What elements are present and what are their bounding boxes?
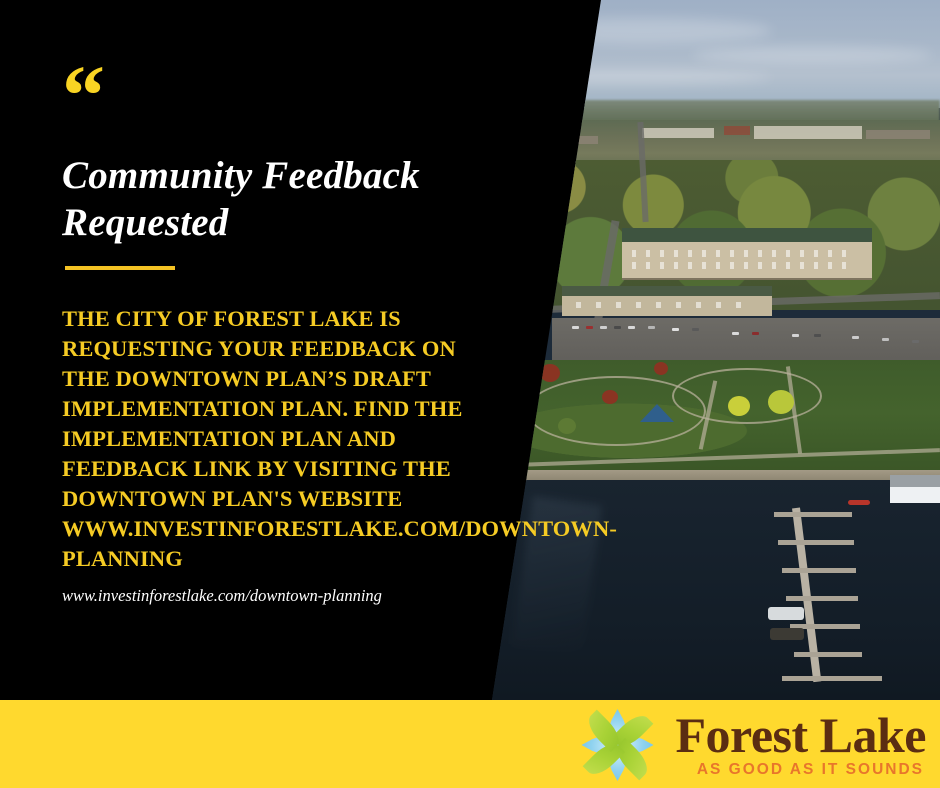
- photo-boathouse: [890, 475, 940, 503]
- photo-dock-finger: [786, 596, 858, 601]
- flower-pinwheel-icon: [566, 705, 670, 785]
- photo-boat: [848, 500, 870, 505]
- photo-dock-finger: [778, 540, 854, 545]
- body-text: The City of Forest Lake is requesting yo…: [62, 304, 482, 574]
- photo-building: [642, 128, 714, 138]
- photo-cloud: [692, 46, 932, 64]
- logo-name: Forest Lake: [676, 710, 926, 760]
- aerial-photo: [492, 0, 940, 700]
- logo-text-block: Forest Lake AS GOOD AS IT SOUNDS: [676, 710, 926, 781]
- website-caption: www.investinforestlake.com/downtown-plan…: [62, 585, 382, 607]
- photo-boat: [768, 607, 804, 620]
- quote-mark-icon: “: [62, 52, 103, 138]
- photo-dock-finger: [774, 512, 852, 517]
- photo-building: [866, 130, 930, 139]
- photo-building: [724, 126, 750, 135]
- photo-dock-finger: [782, 568, 856, 573]
- page-title: Community Feedback Requested: [62, 152, 482, 246]
- photo-building: [754, 126, 862, 139]
- logo-tagline: AS GOOD AS IT SOUNDS: [697, 761, 924, 779]
- photo-boat: [770, 628, 804, 640]
- photo-hotel-building: [622, 228, 872, 280]
- photo-dock-finger: [794, 652, 862, 657]
- title-underline-rule: [65, 266, 175, 270]
- poster: “ Community Feedback Requested The City …: [0, 0, 940, 788]
- footer-bar: Forest Lake AS GOOD AS IT SOUNDS: [0, 700, 940, 788]
- forest-lake-logo[interactable]: Forest Lake AS GOOD AS IT SOUNDS: [566, 704, 926, 786]
- content-panel: “ Community Feedback Requested The City …: [0, 0, 520, 700]
- photo-park-lawn: [492, 360, 940, 478]
- photo-building: [558, 136, 598, 144]
- photo-dock-finger: [782, 676, 882, 681]
- photo-cloud: [512, 18, 772, 44]
- photo-building: [562, 286, 772, 316]
